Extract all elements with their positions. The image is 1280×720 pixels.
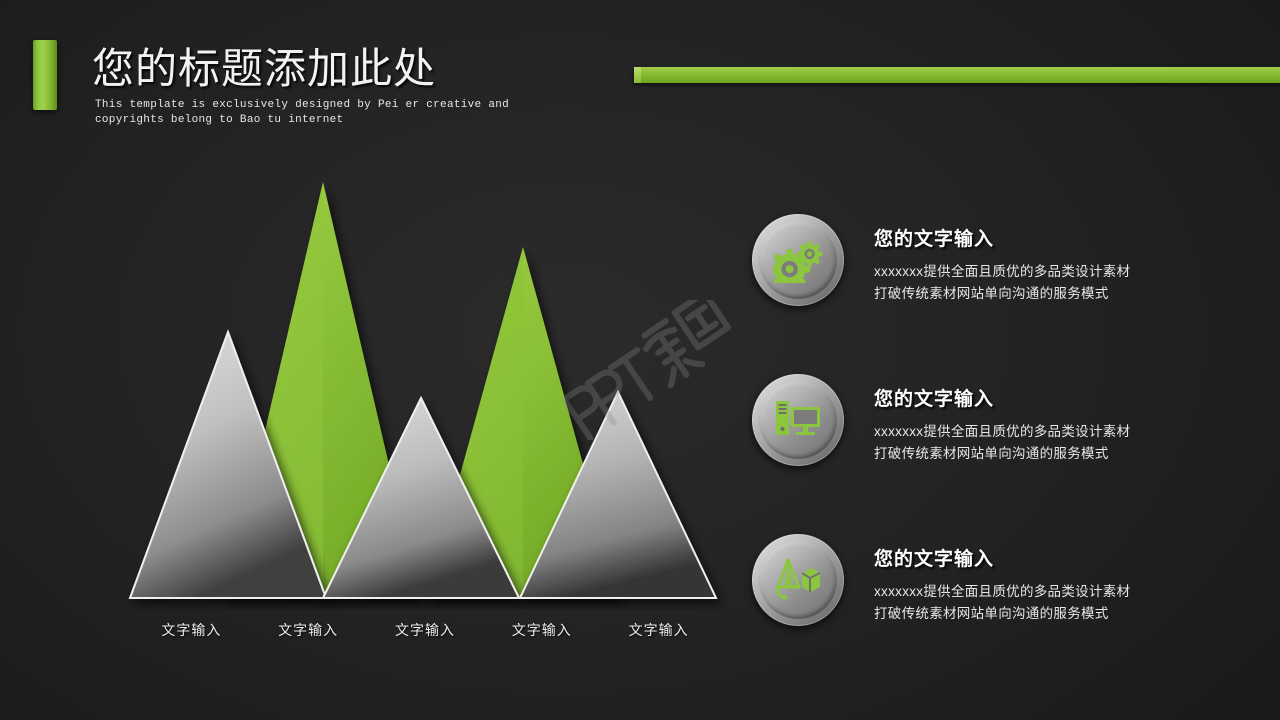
cone-cube-shapes-icon — [774, 557, 822, 603]
chart-label-4: 文字输入 — [483, 620, 600, 640]
feature-badge-3[interactable] — [752, 534, 844, 626]
badge-inner-2 — [759, 381, 837, 459]
triangle-chart — [120, 170, 740, 610]
feature-text-3: 您的文字输入 xxxxxxx提供全面且质优的多品类设计素材 打破传统素材网站单向… — [874, 544, 1224, 625]
feature-body-2-line1: xxxxxxx提供全面且质优的多品类设计素材 — [874, 421, 1224, 443]
chart-label-1: 文字输入 — [133, 620, 250, 640]
feature-body-3-line1: xxxxxxx提供全面且质优的多品类设计素材 — [874, 581, 1224, 603]
page-subtitle: This template is exclusively designed by… — [95, 98, 575, 128]
badge-inner-1 — [759, 221, 837, 299]
feature-title-1: 您的文字输入 — [874, 224, 1224, 251]
gears-icon — [773, 237, 823, 283]
feature-item-2[interactable]: 您的文字输入 xxxxxxx提供全面且质优的多品类设计素材 打破传统素材网站单向… — [752, 370, 1222, 530]
header-divider-bar — [634, 67, 1280, 83]
feature-item-1[interactable]: 您的文字输入 xxxxxxx提供全面且质优的多品类设计素材 打破传统素材网站单向… — [752, 210, 1222, 370]
desktop-computer-icon — [774, 398, 822, 442]
feature-body-2-line2: 打破传统素材网站单向沟通的服务模式 — [874, 443, 1224, 465]
feature-body-3-line2: 打破传统素材网站单向沟通的服务模式 — [874, 603, 1224, 625]
feature-title-2: 您的文字输入 — [874, 384, 1224, 411]
feature-badge-1[interactable] — [752, 214, 844, 306]
feature-list: 您的文字输入 xxxxxxx提供全面且质优的多品类设计素材 打破传统素材网站单向… — [752, 210, 1222, 690]
feature-title-3: 您的文字输入 — [874, 544, 1224, 571]
page-title: 您的标题添加此处 — [92, 42, 436, 96]
feature-body-1-line1: xxxxxxx提供全面且质优的多品类设计素材 — [874, 261, 1224, 283]
feature-body-1-line2: 打破传统素材网站单向沟通的服务模式 — [874, 283, 1224, 305]
feature-badge-2[interactable] — [752, 374, 844, 466]
title-accent-block — [33, 40, 57, 110]
feature-item-3[interactable]: 您的文字输入 xxxxxxx提供全面且质优的多品类设计素材 打破传统素材网站单向… — [752, 530, 1222, 690]
feature-text-2: 您的文字输入 xxxxxxx提供全面且质优的多品类设计素材 打破传统素材网站单向… — [874, 384, 1224, 465]
chart-label-2: 文字输入 — [250, 620, 367, 640]
chart-label-3: 文字输入 — [367, 620, 484, 640]
feature-text-1: 您的文字输入 xxxxxxx提供全面且质优的多品类设计素材 打破传统素材网站单向… — [874, 224, 1224, 305]
chart-category-labels: 文字输入 文字输入 文字输入 文字输入 文字输入 — [133, 620, 717, 640]
badge-inner-3 — [759, 541, 837, 619]
chart-label-5: 文字输入 — [600, 620, 717, 640]
slide-canvas: 您的标题添加此处 This template is exclusively de… — [0, 0, 1280, 720]
